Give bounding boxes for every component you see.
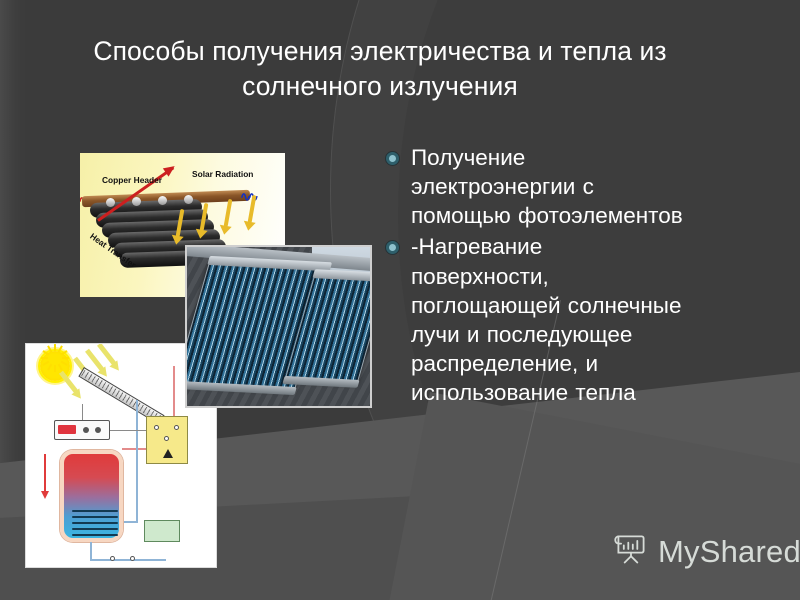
tube-cap: [184, 195, 193, 204]
heat-exchanger-coil: [72, 516, 118, 518]
heat-exchanger-coil: [72, 510, 118, 512]
solar-controller-unit: [54, 420, 110, 440]
tube-cap: [132, 197, 141, 206]
myshared-label: MyShared: [658, 534, 800, 570]
pump-symbol: [163, 449, 173, 458]
heat-exchanger-coil: [72, 528, 118, 530]
controller-display: [58, 425, 76, 434]
pump-station-module: [146, 416, 188, 464]
tube-cap: [106, 198, 115, 207]
copper-header-label: Copper Header: [102, 175, 162, 185]
ring-bullet-icon: [386, 241, 399, 254]
ring-bullet-icon: [386, 152, 399, 165]
heat-exchanger-coil: [72, 522, 118, 524]
valve-symbol: [174, 425, 179, 430]
panel-manifold: [312, 269, 372, 282]
hot-water-storage-tank: [60, 450, 123, 542]
heat-exchanger-coil: [72, 534, 118, 536]
solar-radiation-label: Solar Radiation: [192, 169, 253, 179]
myshared-watermark: MyShared: [613, 531, 800, 572]
flow-direction-arrow: [44, 454, 46, 492]
cold-return-pipe: [136, 400, 138, 522]
valve-symbol: [130, 556, 135, 561]
bullet-list: Получение электроэнергии с помощью фотоэ…: [386, 143, 686, 409]
valve-symbol: [154, 425, 159, 430]
sensor-wire: [110, 430, 148, 431]
valve-symbol: [110, 556, 115, 561]
bullet-text: Получение электроэнергии с помощью фотоэ…: [411, 143, 686, 230]
evacuated-tube-collectors-on-roof-photo: [185, 245, 372, 408]
controller-knob: [95, 427, 101, 433]
cold-water-inlet: [90, 559, 166, 561]
cold-water-inlet: [90, 542, 92, 560]
controller-knob: [83, 427, 89, 433]
list-item: -Нагревание поверхности, поглощающей сол…: [386, 232, 686, 407]
solar-beam-arrow: [59, 371, 79, 395]
slide-canvas: Способы получения электричества и тепла …: [0, 0, 800, 600]
backup-heater-module: [144, 520, 180, 542]
slide-title: Способы получения электричества и тепла …: [60, 34, 700, 104]
solar-ray-arrow: [224, 199, 233, 227]
list-item: Получение электроэнергии с помощью фотоэ…: [386, 143, 686, 230]
bullet-text: -Нагревание поверхности, поглощающей сол…: [411, 232, 686, 407]
presentation-chart-icon: [613, 531, 649, 572]
valve-symbol: [164, 436, 169, 441]
tube-cap: [158, 196, 167, 205]
